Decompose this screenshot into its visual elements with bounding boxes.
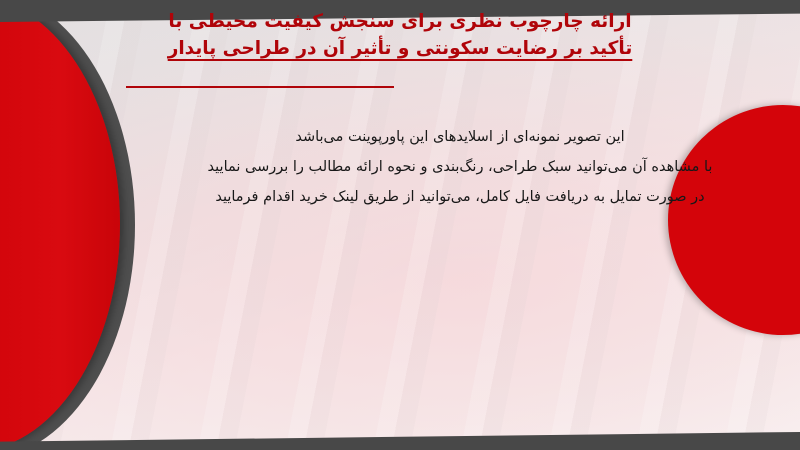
slide-body-line-3: در صورت تمایل به دریافت فایل کامل، می‌تو… xyxy=(140,182,780,212)
slide-body: این تصویر نمونه‌ای از اسلایدهای این پاور… xyxy=(140,122,780,212)
slide-body-line-1: این تصویر نمونه‌ای از اسلایدهای این پاور… xyxy=(140,122,780,152)
slide-title: ارائه چارچوب نظری برای سنجش کیفیت محیطی … xyxy=(0,8,800,63)
title-underline-rule xyxy=(126,86,394,88)
presentation-slide: ارائه چارچوب نظری برای سنجش کیفیت محیطی … xyxy=(0,0,800,450)
slide-title-line-2: تأکید بر رضایت سکونتی و تأثیر آن در طراح… xyxy=(0,35,800,62)
slide-body-line-2: با مشاهده آن می‌توانید سبک طراحی، رنگ‌بن… xyxy=(140,152,780,182)
slide-content: ارائه چارچوب نظری برای سنجش کیفیت محیطی … xyxy=(0,0,800,450)
slide-title-line-1: ارائه چارچوب نظری برای سنجش کیفیت محیطی … xyxy=(0,8,800,35)
